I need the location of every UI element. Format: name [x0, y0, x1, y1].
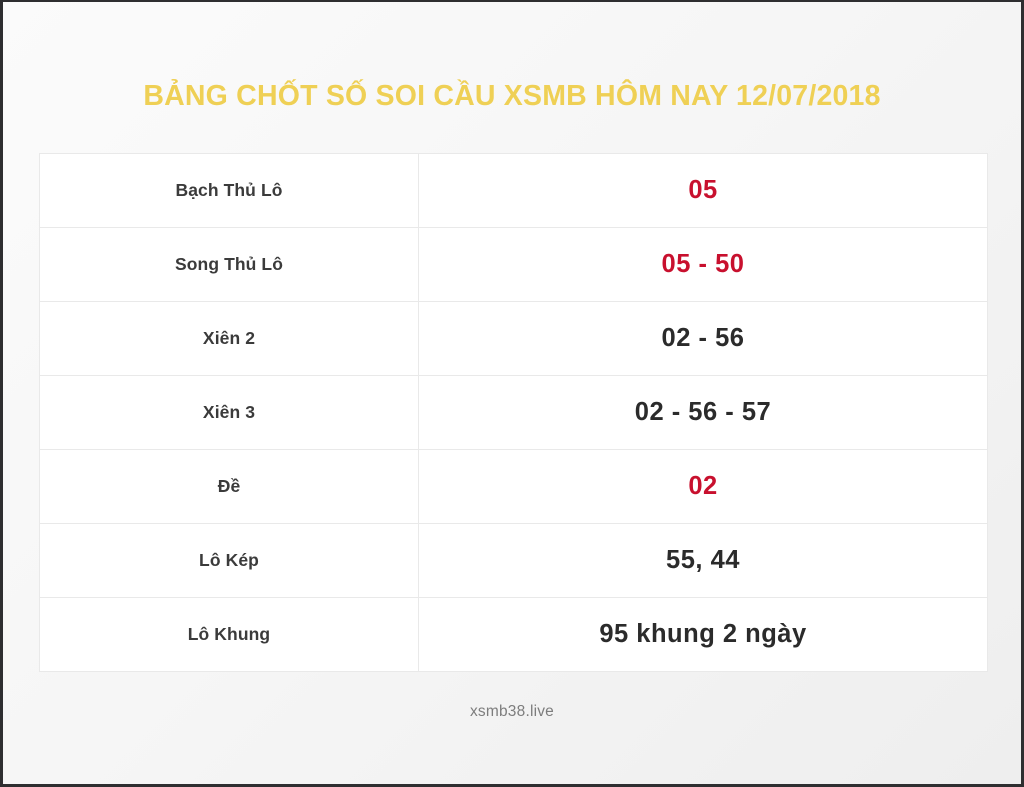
table-cell-value: 02: [419, 450, 988, 524]
page-title: BẢNG CHỐT SỐ SOI CẦU XSMB HÔM NAY 12/07/…: [143, 80, 880, 113]
table-row: Đề02: [40, 450, 988, 524]
table-row: Xiên 302 - 56 - 57: [40, 376, 988, 450]
page-canvas: BẢNG CHỐT SỐ SOI CẦU XSMB HÔM NAY 12/07/…: [3, 2, 1021, 784]
table-cell-label: Xiên 2: [40, 302, 419, 376]
table-cell-value: 02 - 56 - 57: [419, 376, 988, 450]
footer-site-label: xsmb38.live: [470, 703, 554, 721]
table-cell-value: 95 khung 2 ngày: [419, 598, 988, 672]
table-cell-value: 05: [419, 154, 988, 228]
table-cell-label: Bạch Thủ Lô: [40, 154, 419, 228]
table-row: Xiên 202 - 56: [40, 302, 988, 376]
table-cell-value: 05 - 50: [419, 228, 988, 302]
table-row: Song Thủ Lô05 - 50: [40, 228, 988, 302]
table-cell-label: Lô Khung: [40, 598, 419, 672]
table-cell-value: 02 - 56: [419, 302, 988, 376]
table-row: Bạch Thủ Lô05: [40, 154, 988, 228]
table-cell-label: Song Thủ Lô: [40, 228, 419, 302]
prediction-table-body: Bạch Thủ Lô05Song Thủ Lô05 - 50Xiên 202 …: [40, 154, 988, 672]
prediction-table: Bạch Thủ Lô05Song Thủ Lô05 - 50Xiên 202 …: [39, 153, 988, 672]
footer: xsmb38.live: [3, 703, 1021, 721]
table-row: Lô Khung95 khung 2 ngày: [40, 598, 988, 672]
table-cell-label: Xiên 3: [40, 376, 419, 450]
table-cell-label: Lô Kép: [40, 524, 419, 598]
page-title-container: BẢNG CHỐT SỐ SOI CẦU XSMB HÔM NAY 12/07/…: [3, 80, 1021, 113]
table-cell-label: Đề: [40, 450, 419, 524]
table-row: Lô Kép55, 44: [40, 524, 988, 598]
table-cell-value: 55, 44: [419, 524, 988, 598]
